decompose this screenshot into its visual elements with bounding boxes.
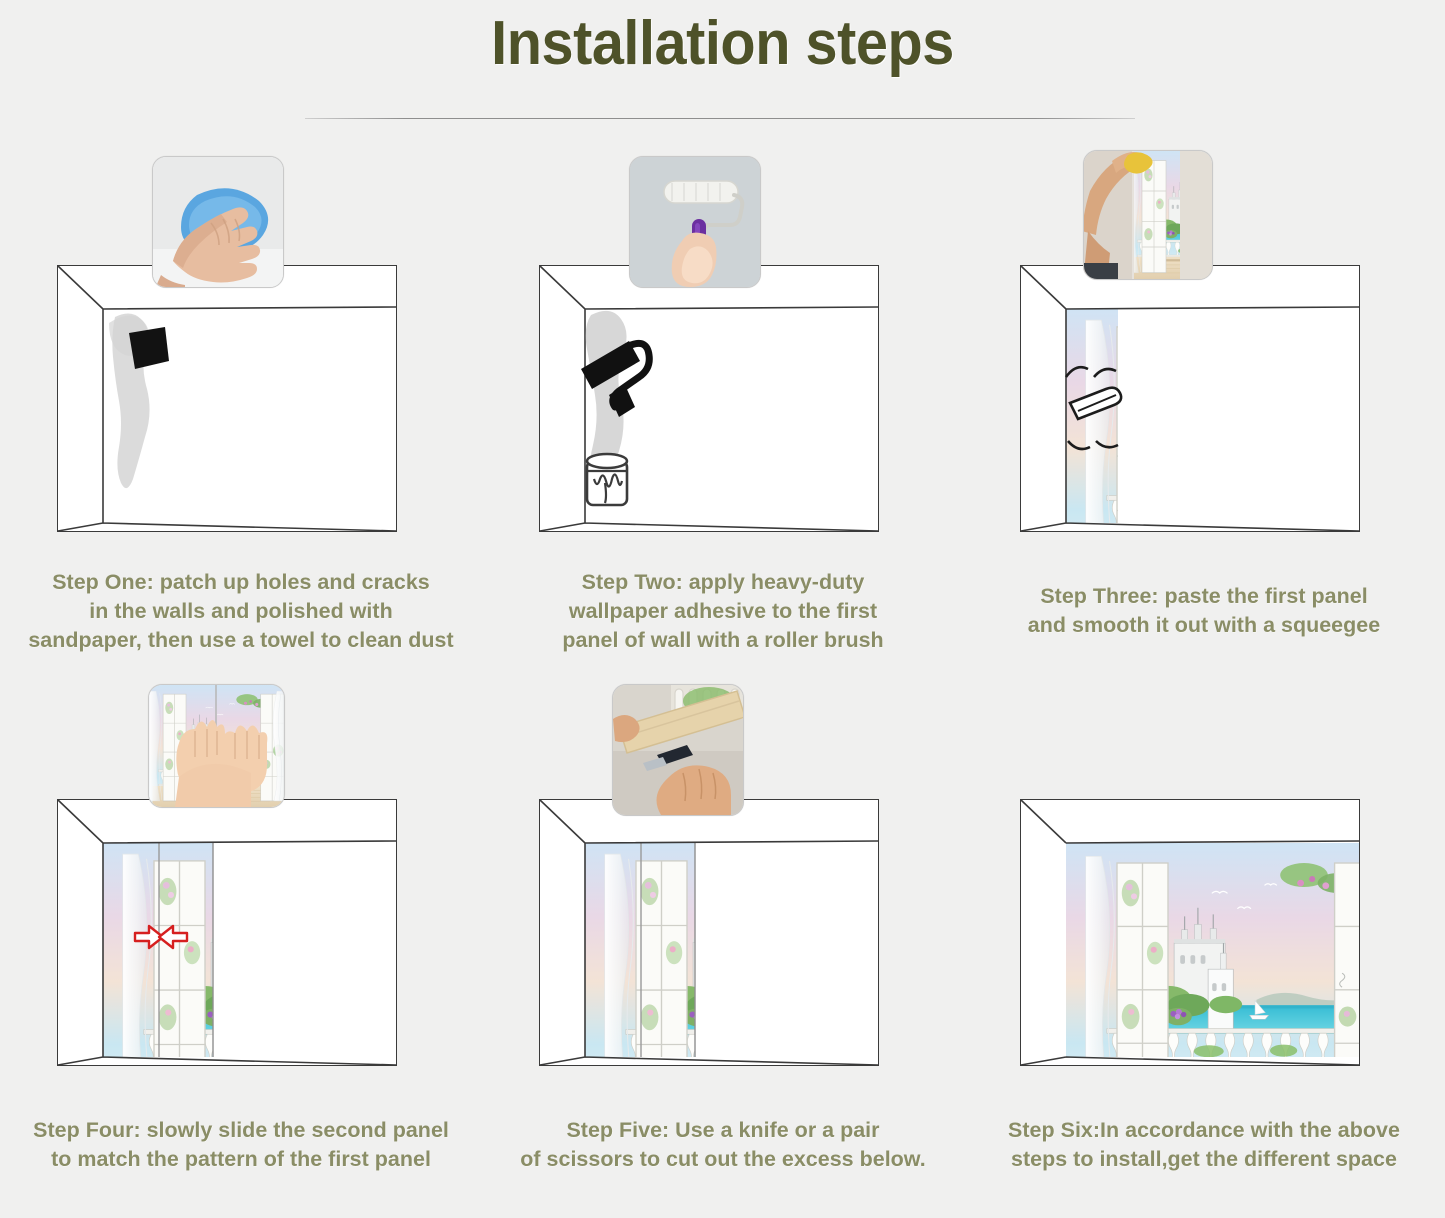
- room-perspective-lines: [539, 799, 879, 1066]
- step-two-caption: Step Two: apply heavy-duty wallpaper adh…: [482, 568, 964, 655]
- caption-line: sandpaper, then use a towel to clean dus…: [0, 626, 482, 655]
- step-five-photo: [612, 684, 744, 816]
- caption-line: Step Two: apply heavy-duty: [482, 568, 964, 597]
- installation-steps-poster: Installation steps: [0, 0, 1445, 1217]
- caption-line: Step One: patch up holes and cracks: [0, 568, 482, 597]
- caption-line: wallpaper adhesive to the first: [482, 597, 964, 626]
- room-diagram: [1020, 799, 1360, 1066]
- room-diagram: [57, 265, 397, 532]
- paint-bucket-icon: [539, 265, 879, 532]
- caption-line: in the walls and polished with: [0, 597, 482, 626]
- room-diagram: [539, 265, 879, 532]
- caption-line: of scissors to cut out the excess below.: [482, 1145, 964, 1174]
- room-perspective-lines: [1020, 799, 1360, 1066]
- step-one-illustration: [0, 150, 482, 570]
- room-diagram: [1020, 265, 1360, 532]
- caption-line: Step Four: slowly slide the second panel: [0, 1116, 482, 1145]
- step-three-illustration: [963, 150, 1445, 570]
- step-five-caption: Step Five: Use a knife or a pair of scis…: [482, 1116, 964, 1174]
- squeegee-outline-icon: [1020, 265, 1360, 532]
- caption-line: steps to install,get the different space: [963, 1145, 1445, 1174]
- caption-line: and smooth it out with a squeegee: [963, 611, 1445, 640]
- room-diagram: [57, 799, 397, 1066]
- steps-grid: Step One: patch up holes and cracks in t…: [0, 150, 1445, 1218]
- step-four-photo: [148, 684, 285, 808]
- caption-line: Step Five: Use a knife or a pair: [482, 1116, 964, 1145]
- step-three-caption: Step Three: paste the first panel and sm…: [963, 582, 1445, 640]
- page-title: Installation steps: [51, 8, 1395, 79]
- step-four-illustration: [0, 684, 482, 1104]
- step-six-illustration: [963, 684, 1445, 1104]
- caption-line: Step Three: paste the first panel: [963, 582, 1445, 611]
- step-six-caption: Step Six:In accordance with the above st…: [963, 1116, 1445, 1174]
- step-card-three: Step Three: paste the first panel and sm…: [963, 150, 1445, 684]
- steps-row-bottom: Step Four: slowly slide the second panel…: [0, 684, 1445, 1218]
- alignment-arrows-icon: [57, 799, 397, 1066]
- step-one-caption: Step One: patch up holes and cracks in t…: [0, 568, 482, 655]
- step-three-photo: [1083, 150, 1213, 280]
- sanding-block-icon: [57, 265, 397, 532]
- step-card-two: Step Two: apply heavy-duty wallpaper adh…: [482, 150, 964, 684]
- step-card-one: Step One: patch up holes and cracks in t…: [0, 150, 482, 684]
- title-divider: [305, 118, 1135, 119]
- step-one-photo: [152, 156, 284, 288]
- caption-line: Step Six:In accordance with the above: [963, 1116, 1445, 1145]
- step-card-six: Step Six:In accordance with the above st…: [963, 684, 1445, 1218]
- step-two-illustration: [482, 150, 964, 570]
- steps-row-top: Step One: patch up holes and cracks in t…: [0, 150, 1445, 684]
- step-four-caption: Step Four: slowly slide the second panel…: [0, 1116, 482, 1174]
- step-card-four: Step Four: slowly slide the second panel…: [0, 684, 482, 1218]
- caption-line: to match the pattern of the first panel: [0, 1145, 482, 1174]
- caption-line: panel of wall with a roller brush: [482, 626, 964, 655]
- room-diagram: [539, 799, 879, 1066]
- step-two-photo: [629, 156, 761, 288]
- step-five-illustration: [482, 684, 964, 1104]
- step-card-five: Step Five: Use a knife or a pair of scis…: [482, 684, 964, 1218]
